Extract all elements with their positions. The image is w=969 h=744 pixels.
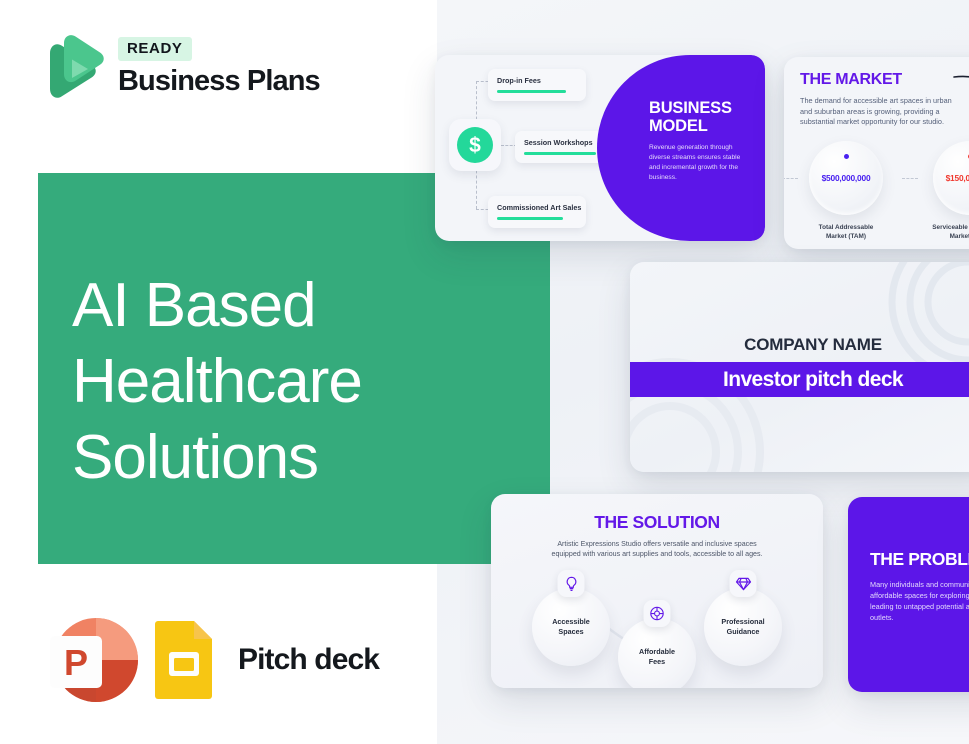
- dollar-sign-icon: $: [457, 127, 493, 163]
- diamond-gem-icon: [730, 570, 757, 597]
- problem-title: THE PROBLEM: [870, 549, 969, 570]
- slide-business-model[interactable]: $ Drop-in Fees Session Workshops Commiss…: [435, 55, 765, 241]
- metric-value: $150,000,000: [946, 173, 969, 183]
- solution-node-2[interactable]: Professional Guidance: [704, 588, 782, 666]
- stream-label: Commissioned Art Sales: [497, 203, 577, 212]
- metric-separator-mid: [902, 178, 918, 179]
- format-row: P Pitch deck: [42, 618, 379, 702]
- stream-bar: [497, 90, 566, 93]
- format-label: Pitch deck: [238, 643, 379, 677]
- stream-chip-0[interactable]: Drop-in Fees: [488, 69, 586, 101]
- brand-name: Business Plans: [118, 65, 320, 98]
- curved-arrow-icon: [952, 73, 969, 113]
- metric-caption: Serviceable Addressable Market (SAM): [908, 223, 969, 241]
- revenue-hub-tile: $: [449, 119, 501, 171]
- business-model-title: BUSINESS MODEL: [649, 99, 753, 135]
- market-description: The demand for accessible art spaces in …: [800, 96, 952, 128]
- solution-node-label: Affordable Fees: [618, 618, 696, 688]
- google-slides-icon: [152, 618, 218, 702]
- business-model-description: Revenue generation through diverse strea…: [649, 143, 753, 183]
- solution-node-label: Professional Guidance: [704, 588, 782, 666]
- brand-text-block: READY Business Plans: [118, 37, 320, 98]
- investor-band-text: Investor pitch deck: [723, 368, 903, 392]
- metric-dot: [844, 154, 849, 159]
- stream-chip-2[interactable]: Commissioned Art Sales: [488, 196, 586, 228]
- ready-badge: READY: [118, 37, 192, 61]
- stream-label: Drop-in Fees: [497, 76, 577, 85]
- page-title: AI Based Healthcare Solutions: [72, 268, 502, 496]
- slide-the-problem[interactable]: THE PROBLEM Many individuals and communi…: [848, 497, 969, 692]
- metric-disc: $500,000,000: [809, 141, 883, 215]
- brand-header: READY Business Plans: [42, 33, 320, 101]
- slide-the-solution[interactable]: THE SOLUTION Artistic Expressions Studio…: [491, 494, 823, 688]
- slide-investor-pitch-deck[interactable]: COMPANY NAME Investor pitch deck: [630, 262, 969, 472]
- metric-disc: $150,000,000: [933, 141, 969, 215]
- solution-node-1[interactable]: Affordable Fees: [618, 618, 696, 688]
- metric-separator-left: [784, 178, 798, 179]
- powerpoint-icon: P: [42, 618, 138, 702]
- stream-bar: [524, 152, 596, 155]
- metric-value: $500,000,000: [822, 173, 871, 183]
- slide-the-market[interactable]: THE MARKET The demand for accessible art…: [784, 57, 969, 249]
- investor-company-name: COMPANY NAME: [630, 335, 969, 355]
- double-play-triangle-logo-icon: [42, 33, 106, 101]
- metric-caption: Total Addressable Market (TAM): [784, 223, 908, 241]
- solution-node-0[interactable]: Accessible Spaces: [532, 588, 610, 666]
- stream-label: Session Workshops: [524, 138, 604, 147]
- problem-description: Many individuals and communities lack ac…: [870, 579, 969, 623]
- market-metric-sam: $150,000,000 Serviceable Addressable Mar…: [908, 141, 969, 241]
- lightbulb-icon: [558, 570, 585, 597]
- investor-title-band: Investor pitch deck: [630, 362, 969, 397]
- market-metrics-row: $500,000,000 Total Addressable Market (T…: [784, 141, 969, 241]
- stream-bar: [497, 217, 563, 220]
- market-metric-tam: $500,000,000 Total Addressable Market (T…: [784, 141, 908, 241]
- market-title: THE MARKET: [800, 71, 969, 89]
- solution-node-label: Accessible Spaces: [532, 588, 610, 666]
- svg-text:P: P: [64, 642, 88, 683]
- target-circle-icon: [644, 600, 671, 627]
